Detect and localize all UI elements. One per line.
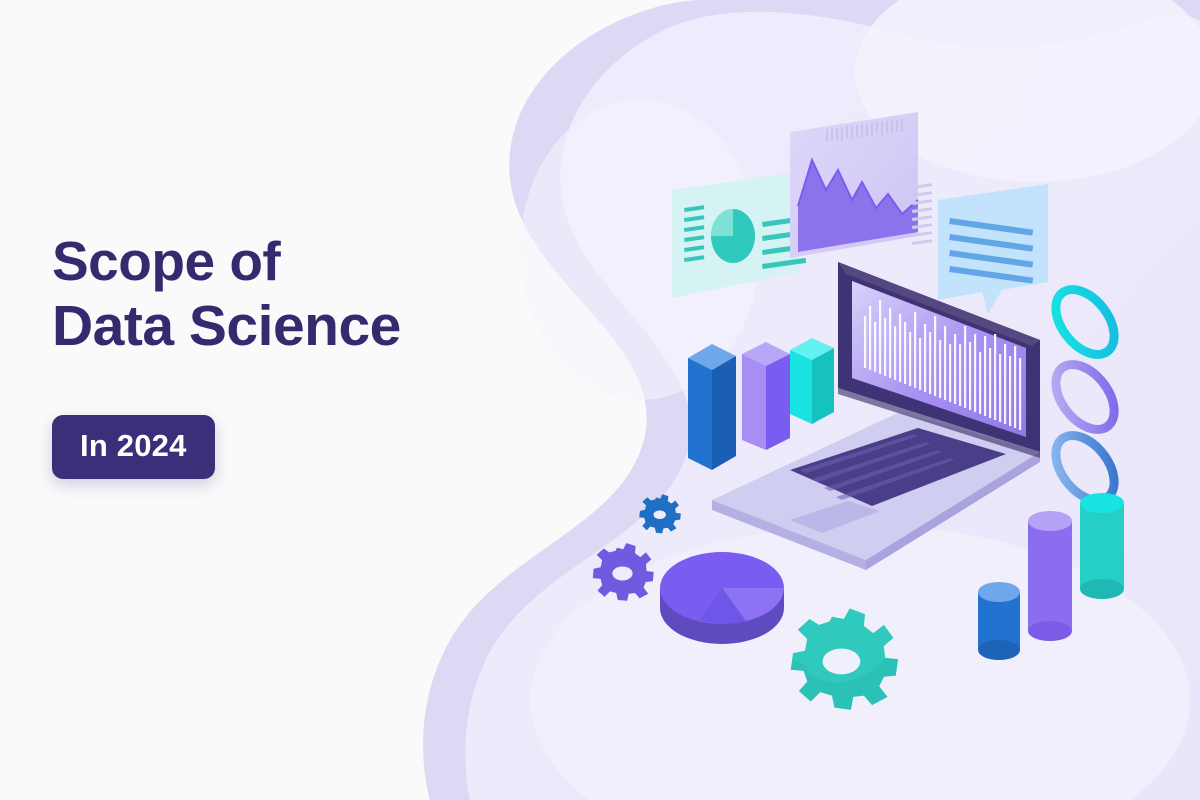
hero-banner: Scope of Data Science In 2024 [0,0,1200,800]
pie-disc-3d [660,552,784,644]
card-chat-blue [938,184,1048,314]
ring-cyan [1044,279,1126,366]
gear-large-teal-icon [791,608,898,709]
bar-blue [688,344,736,470]
pie-chart-teal [711,209,755,263]
card-area-purple [790,112,932,258]
headline-line-1: Scope of [52,232,572,290]
headline-line-2: Data Science [52,296,572,356]
bar-violet [742,342,790,450]
hero-text-block: Scope of Data Science In 2024 [52,232,572,479]
bar-chart-3d [688,338,834,470]
cylinder-blue [978,582,1020,660]
cylinders-group [978,493,1124,660]
cylinder-cyan [1080,493,1124,599]
ring-violet [1044,354,1126,441]
cylinder-violet [1028,511,1072,641]
bar-cyan [790,338,834,424]
gear-medium-purple-icon [593,543,654,601]
gear-small-blue-icon [639,494,681,533]
year-badge[interactable]: In 2024 [52,415,215,479]
card-pie-teal [672,172,806,298]
rings-group [1044,279,1126,512]
